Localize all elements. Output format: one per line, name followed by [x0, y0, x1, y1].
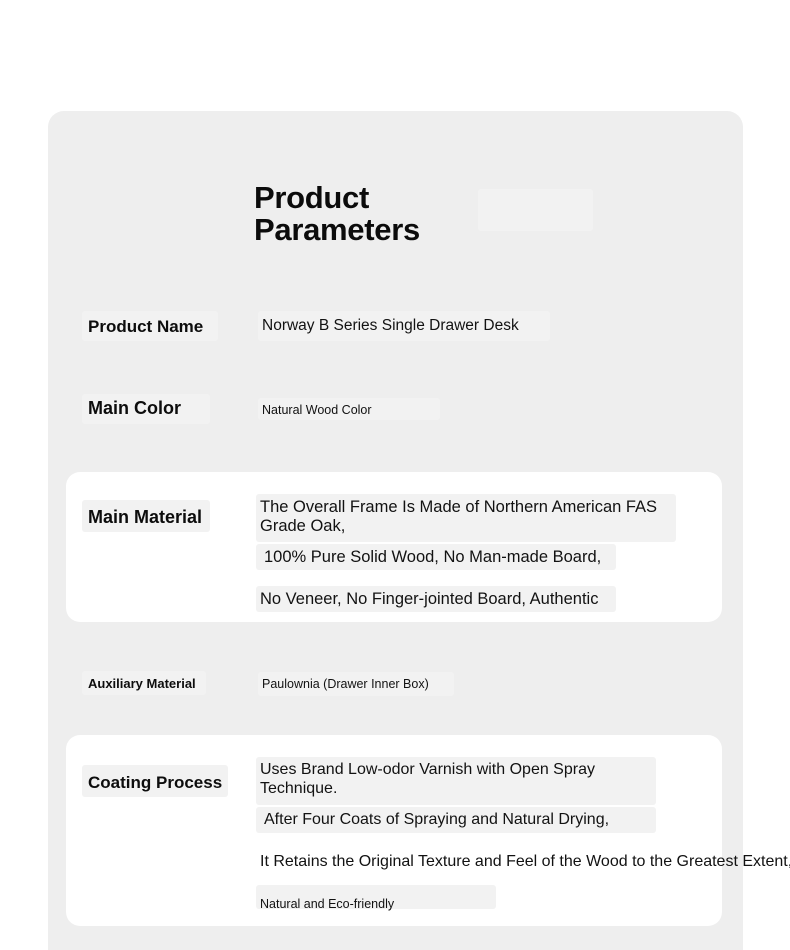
card-coating-process: Coating Process Uses Brand Low-odor Varn…: [66, 735, 722, 926]
card-line: The Overall Frame Is Made of Northern Am…: [260, 498, 690, 537]
card-line: 100% Pure Solid Wood, No Man-made Board,: [264, 548, 601, 567]
card-label-coating-process: Coating Process: [88, 773, 222, 793]
row-label-main-color: Main Color: [88, 398, 181, 419]
card-line: Natural and Eco-friendly: [260, 897, 394, 912]
product-parameters-page: Product Parameters Product Name Norway B…: [0, 0, 790, 950]
card-line: Uses Brand Low-odor Varnish with Open Sp…: [260, 761, 660, 799]
row-value-product-name: Norway B Series Single Drawer Desk: [262, 317, 519, 335]
row-label-product-name: Product Name: [88, 317, 203, 337]
row-value-main-color: Natural Wood Color: [262, 403, 372, 417]
page-title: Product Parameters: [254, 182, 584, 245]
card-main-material: Main Material The Overall Frame Is Made …: [66, 472, 722, 622]
row-product-name: Product Name Norway B Series Single Draw…: [48, 307, 743, 353]
card-line: It Retains the Original Texture and Feel…: [260, 853, 790, 872]
card-line: No Veneer, No Finger-jointed Board, Auth…: [260, 590, 598, 609]
row-auxiliary-material: Auxiliary Material Paulownia (Drawer Inn…: [48, 666, 743, 706]
parameters-panel: Product Parameters Product Name Norway B…: [48, 111, 743, 950]
card-line: After Four Coats of Spraying and Natural…: [264, 811, 609, 830]
card-label-main-material: Main Material: [88, 507, 202, 528]
row-label-auxiliary-material: Auxiliary Material: [88, 676, 196, 691]
row-main-color: Main Color Natural Wood Color: [48, 388, 743, 432]
row-value-auxiliary-material: Paulownia (Drawer Inner Box): [262, 677, 429, 691]
